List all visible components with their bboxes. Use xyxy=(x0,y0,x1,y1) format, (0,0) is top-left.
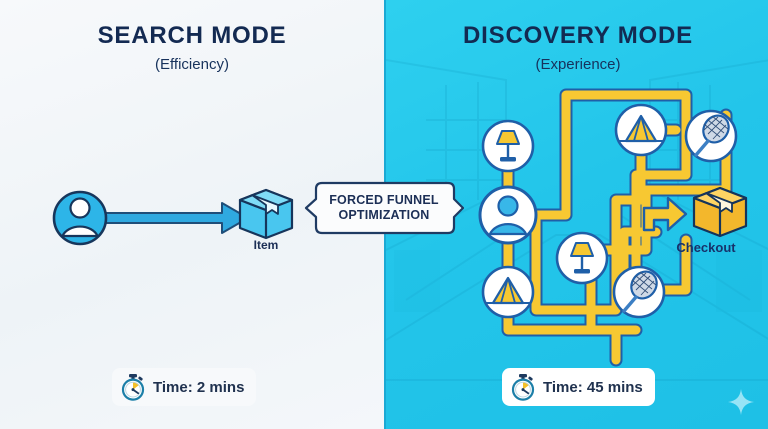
checkout-label: Checkout xyxy=(660,240,752,255)
forced-funnel-callout-text: FORCED FUNNEL OPTIMIZATION xyxy=(304,181,464,235)
callout-line-2: OPTIMIZATION xyxy=(338,208,429,222)
discovery-mode-subtitle: (Experience) xyxy=(386,56,768,73)
stopwatch-icon xyxy=(510,373,536,401)
user-avatar-icon xyxy=(54,192,106,244)
stopwatch-icon xyxy=(120,373,146,401)
item-label: Item xyxy=(238,238,294,252)
discovery-mode-title: DISCOVERY MODE xyxy=(386,22,768,50)
search-mode-time-text: Time: 2 mins xyxy=(153,379,244,396)
package-box-icon xyxy=(240,190,292,238)
search-mode-subtitle: (Efficiency) xyxy=(0,56,384,73)
discovery-mode-time-badge: Time: 45 mins xyxy=(502,368,655,406)
infographic-canvas: SEARCH MODE (Efficiency) Item xyxy=(0,0,768,429)
sparkle-icon xyxy=(728,389,754,415)
search-mode-time-badge: Time: 2 mins xyxy=(112,368,256,406)
forced-funnel-callout: FORCED FUNNEL OPTIMIZATION xyxy=(304,181,464,235)
callout-line-1: FORCED FUNNEL xyxy=(329,193,439,207)
right-arrow-icon xyxy=(78,203,248,233)
search-mode-title: SEARCH MODE xyxy=(0,22,384,50)
discovery-mode-time-text: Time: 45 mins xyxy=(543,379,643,396)
